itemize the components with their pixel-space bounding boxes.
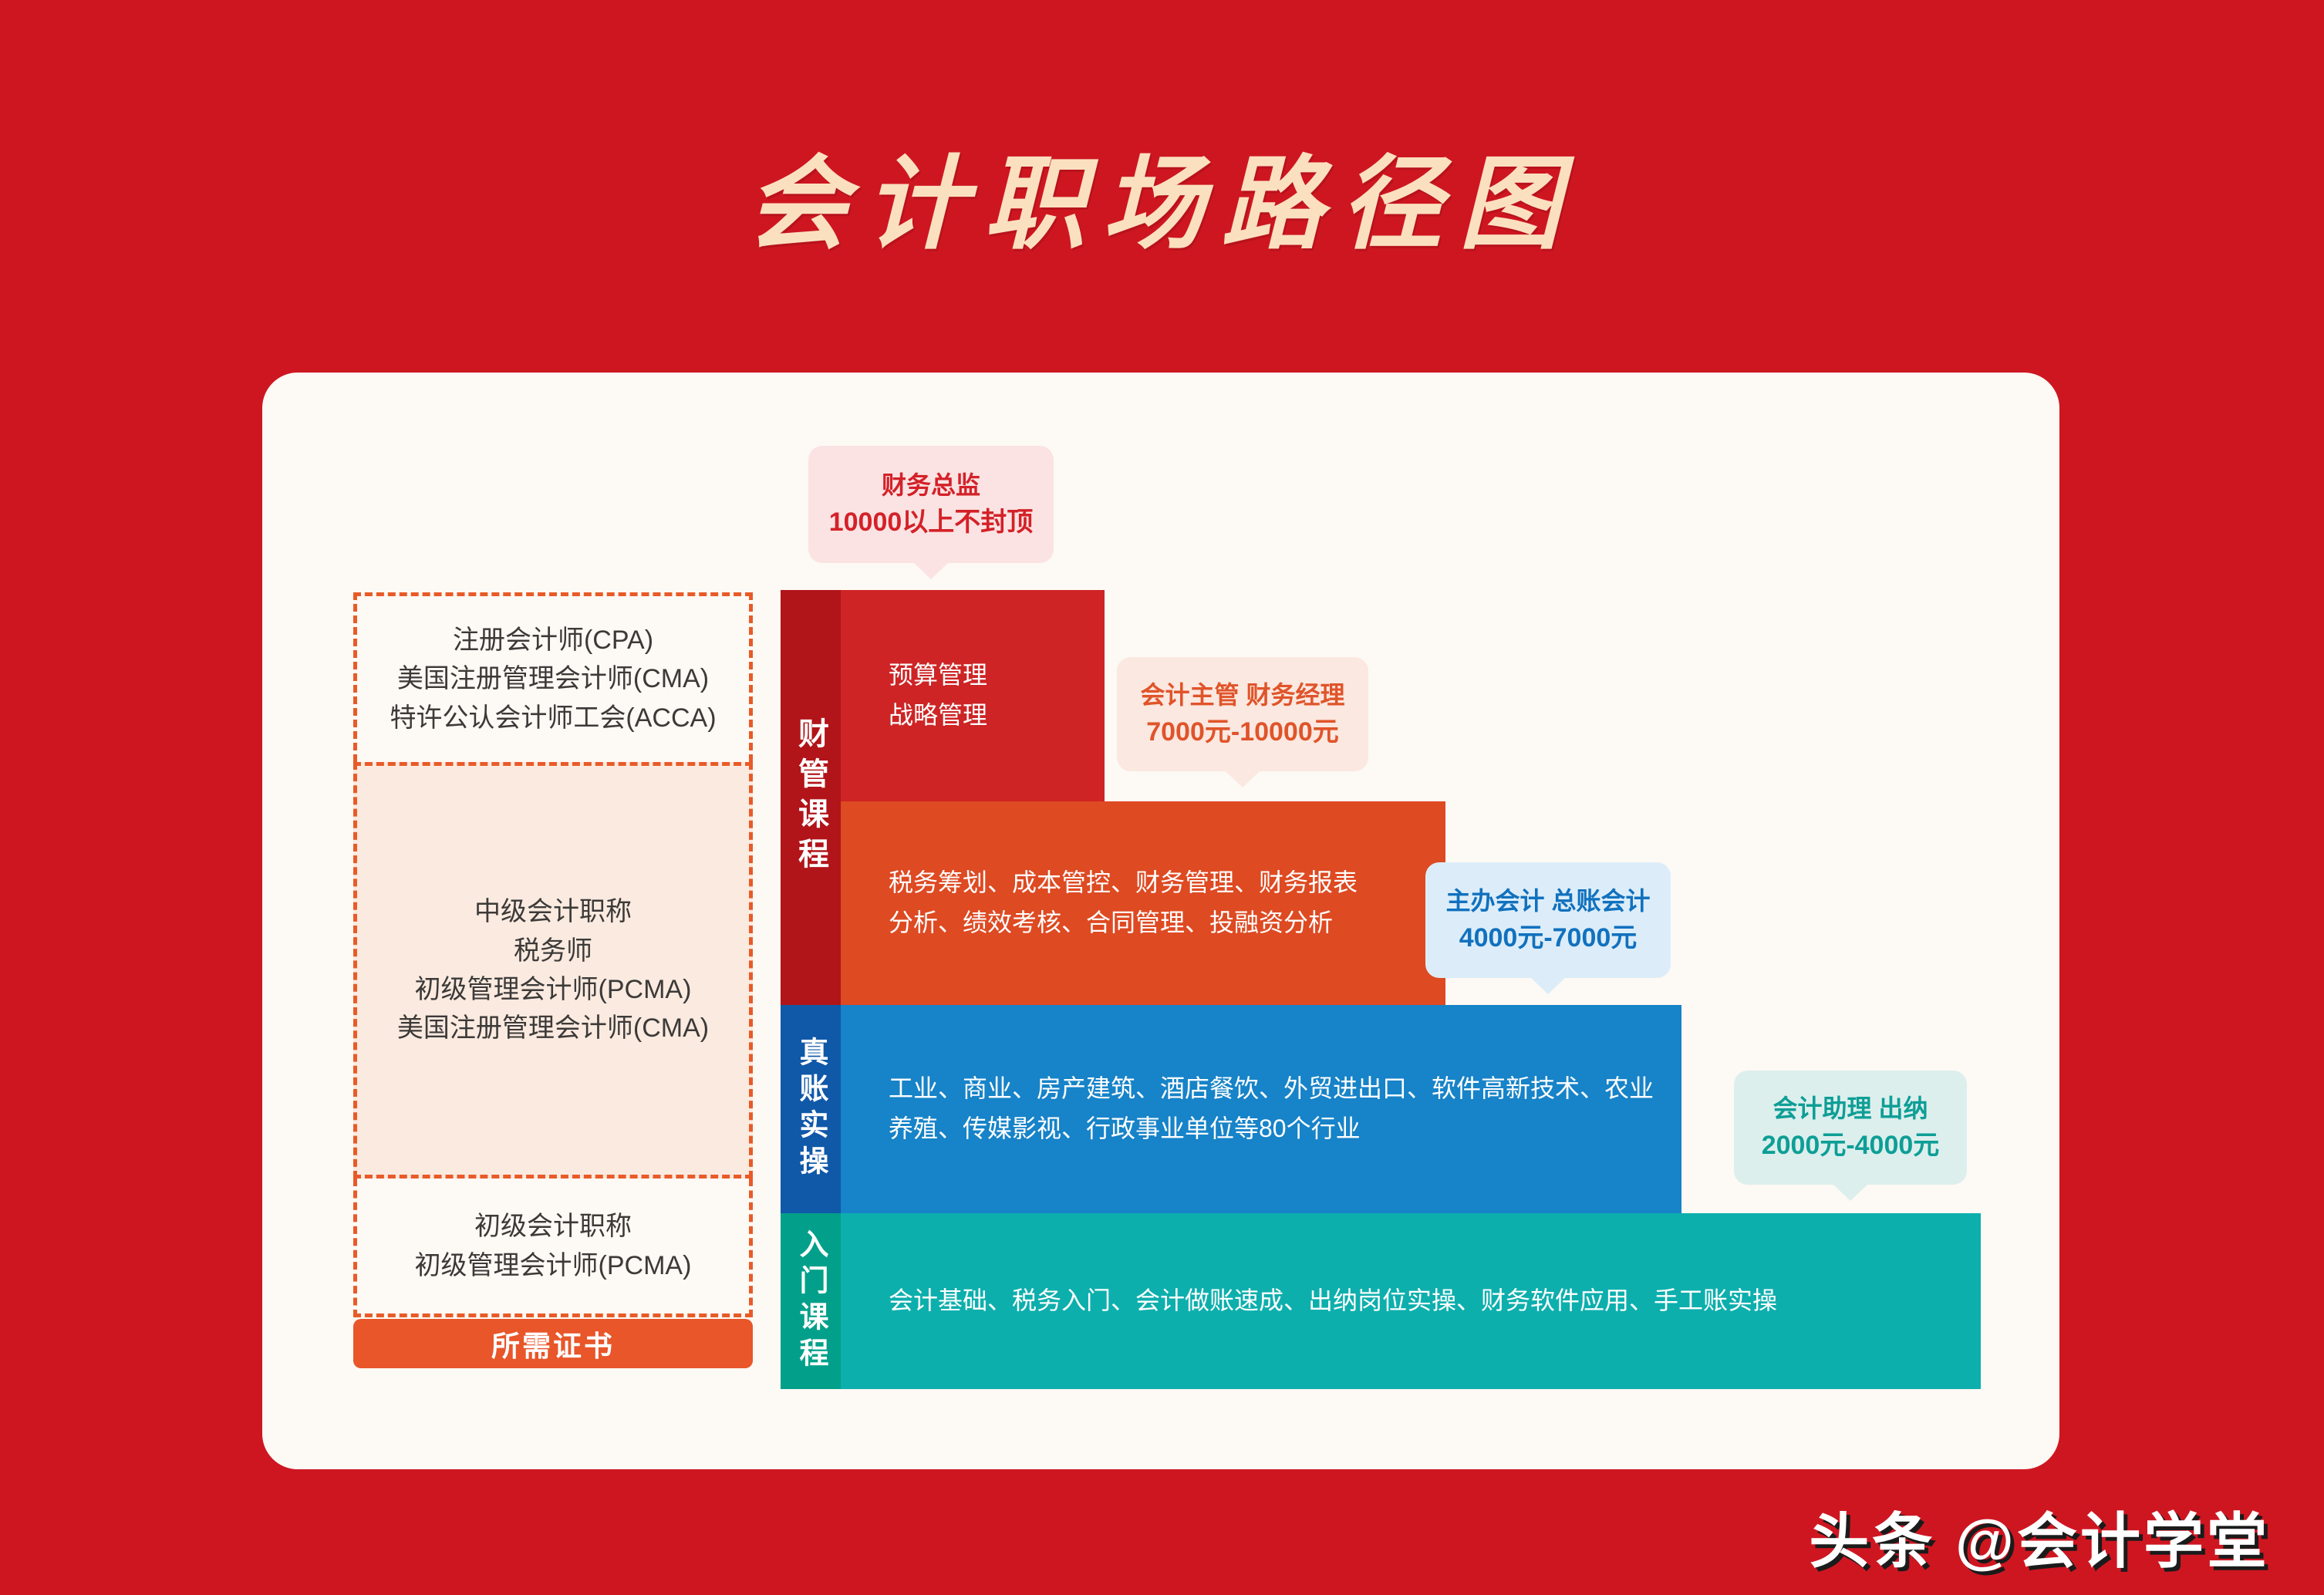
watermark-logo: 头条 @会计学堂 — [1809, 1493, 2270, 1580]
salary-bubble-role: 会计助理 出纳 — [1773, 1091, 1928, 1126]
tier-line: 会计基础、税务入门、会计做账速成、出纳岗位实操、财务软件应用、手工账实操 — [889, 1281, 1981, 1321]
tier-line: 战略管理 — [889, 696, 1105, 736]
tier-entry-course: 入门课程 会计基础、税务入门、会计做账速成、出纳岗位实操、财务软件应用、手工账实… — [781, 1213, 1981, 1389]
salary-bubble-role: 财务总监 — [882, 467, 980, 503]
certificate-line: 初级管理会计师(PCMA) — [415, 1246, 692, 1285]
tier-body-real-bookkeeping: 工业、商业、房产建筑、酒店餐饮、外贸进出口、软件高新技术、农业 养殖、传媒影视、… — [841, 1005, 1681, 1213]
certificate-line: 税务师 — [514, 932, 592, 970]
bubble-tail-icon — [914, 563, 948, 579]
tier-label-real-bookkeeping: 真账实操 — [781, 1005, 841, 1213]
certificate-line: 美国注册管理会计师(CMA) — [397, 1009, 709, 1047]
salary-bubble-pay: 10000以上不封顶 — [829, 504, 1034, 541]
tier-line: 工业、商业、房产建筑、酒店餐饮、外贸进出口、软件高新技术、农业 — [889, 1069, 1681, 1109]
tier-real-bookkeeping: 真账实操 工业、商业、房产建筑、酒店餐饮、外贸进出口、软件高新技术、农业 养殖、… — [781, 1005, 1681, 1213]
bubble-tail-icon — [1531, 978, 1565, 994]
tier-body-financial-management-upper: 预算管理 战略管理 — [841, 590, 1105, 801]
certificate-line: 中级会计职称 — [474, 892, 632, 931]
certificates-column: 注册会计师(CPA) 美国注册管理会计师(CMA) 特许公认会计师工会(ACCA… — [353, 592, 753, 1390]
salary-bubble-cfo: 财务总监 10000以上不封顶 — [808, 446, 1054, 563]
tier-body-entry-course: 会计基础、税务入门、会计做账速成、出纳岗位实操、财务软件应用、手工账实操 — [841, 1213, 1981, 1389]
tier-financial-management-lower: 税务筹划、成本管控、财务管理、财务报表 分析、绩效考核、合同管理、投融资分析 — [781, 801, 1445, 1005]
salary-bubble-role: 会计主管 财务经理 — [1141, 677, 1345, 713]
required-certificates-banner: 所需证书 — [353, 1319, 753, 1368]
tier-label-financial-management: 财管课程 — [781, 590, 841, 1005]
tier-label-entry-course: 入门课程 — [781, 1213, 841, 1389]
salary-bubble-manager: 会计主管 财务经理 7000元-10000元 — [1117, 657, 1368, 771]
certificate-line: 特许公认会计师工会(ACCA) — [390, 699, 716, 737]
bubble-tail-icon — [1226, 771, 1260, 787]
salary-bubble-pay: 7000元-10000元 — [1146, 713, 1339, 751]
tier-line: 税务筹划、成本管控、财务管理、财务报表 — [889, 863, 1445, 903]
tier-line: 分析、绩效考核、合同管理、投融资分析 — [889, 903, 1445, 943]
certificate-line: 注册会计师(CPA) — [453, 621, 653, 659]
certificate-group-intermediate: 中级会计职称 税务师 初级管理会计师(PCMA) 美国注册管理会计师(CMA) — [353, 762, 753, 1179]
tier-body-financial-management-lower: 税务筹划、成本管控、财务管理、财务报表 分析、绩效考核、合同管理、投融资分析 — [841, 801, 1445, 1005]
certificate-line: 初级管理会计师(PCMA) — [415, 970, 692, 1009]
salary-bubble-pay: 2000元-4000元 — [1762, 1127, 1940, 1165]
certificate-group-advanced: 注册会计师(CPA) 美国注册管理会计师(CMA) 特许公认会计师工会(ACCA… — [353, 592, 753, 762]
tier-line: 预算管理 — [889, 656, 1105, 696]
salary-bubble-role: 主办会计 总账会计 — [1446, 883, 1651, 919]
salary-bubble-pay: 4000元-7000元 — [1459, 919, 1638, 957]
bubble-tail-icon — [1833, 1185, 1867, 1201]
tier-line: 养殖、传媒影视、行政事业单位等80个行业 — [889, 1109, 1681, 1149]
certificate-line: 初级会计职称 — [474, 1207, 632, 1246]
page-title: 会计职场路径图 — [0, 154, 2324, 256]
salary-bubble-assistant: 会计助理 出纳 2000元-4000元 — [1734, 1071, 1967, 1185]
certificate-group-entry: 初级会计职称 初级管理会计师(PCMA) — [353, 1179, 753, 1317]
certificate-line: 美国注册管理会计师(CMA) — [397, 659, 709, 698]
salary-bubble-general-ledger: 主办会计 总账会计 4000元-7000元 — [1425, 862, 1671, 978]
